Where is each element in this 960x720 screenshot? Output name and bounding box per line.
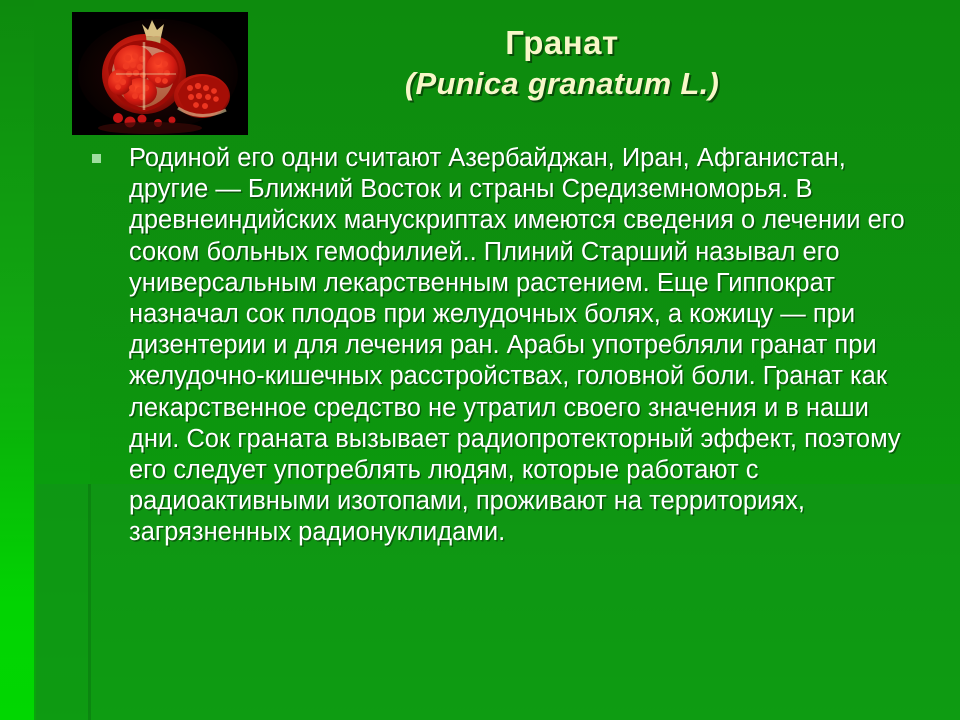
- pomegranate-photo: [72, 12, 248, 135]
- square-bullet-icon: [92, 154, 101, 163]
- background-left-accent-strip-lower: [0, 430, 34, 720]
- bullet-item: Родиной его одни считают Азербайджан, Ир…: [92, 143, 920, 549]
- bullet-paragraph: Родиной его одни считают Азербайджан, Ир…: [129, 143, 920, 549]
- slide-title: Гранат (Punica granatum L.): [262, 22, 862, 104]
- title-main: Гранат: [262, 22, 862, 64]
- pomegranate-illustration: [72, 12, 248, 135]
- title-latin-name: (Punica granatum L.): [262, 64, 862, 104]
- presentation-slide: Гранат (Punica granatum L.) Родиной его …: [0, 0, 960, 720]
- background-lower-panel-edge: [88, 484, 91, 720]
- slide-body: Родиной его одни считают Азербайджан, Ир…: [92, 143, 920, 549]
